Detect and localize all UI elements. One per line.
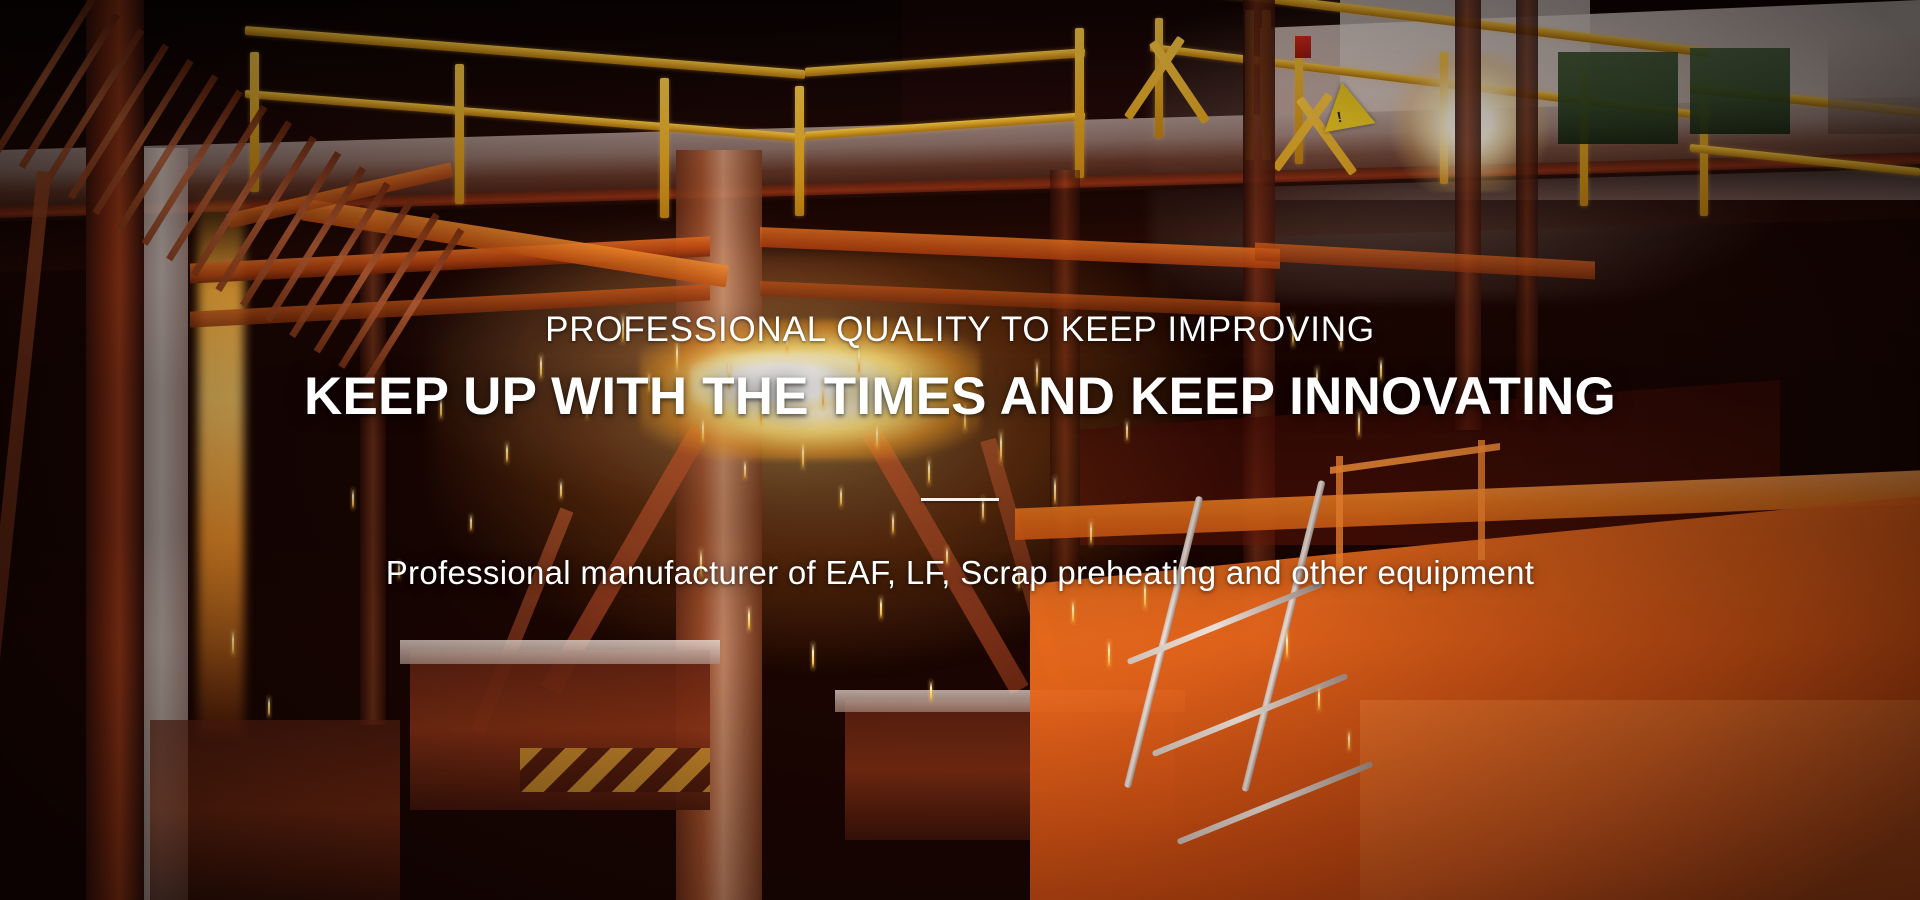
banner-divider bbox=[921, 498, 999, 501]
banner-subtitle: Professional manufacturer of EAF, LF, Sc… bbox=[386, 553, 1535, 593]
banner-headline: KEEP UP WITH THE TIMES AND KEEP INNOVATI… bbox=[304, 369, 1616, 425]
hero-banner: ! bbox=[0, 0, 1920, 900]
banner-text-overlay: PROFESSIONAL QUALITY TO KEEP IMPROVING K… bbox=[0, 0, 1920, 900]
banner-eyebrow: PROFESSIONAL QUALITY TO KEEP IMPROVING bbox=[545, 312, 1375, 347]
